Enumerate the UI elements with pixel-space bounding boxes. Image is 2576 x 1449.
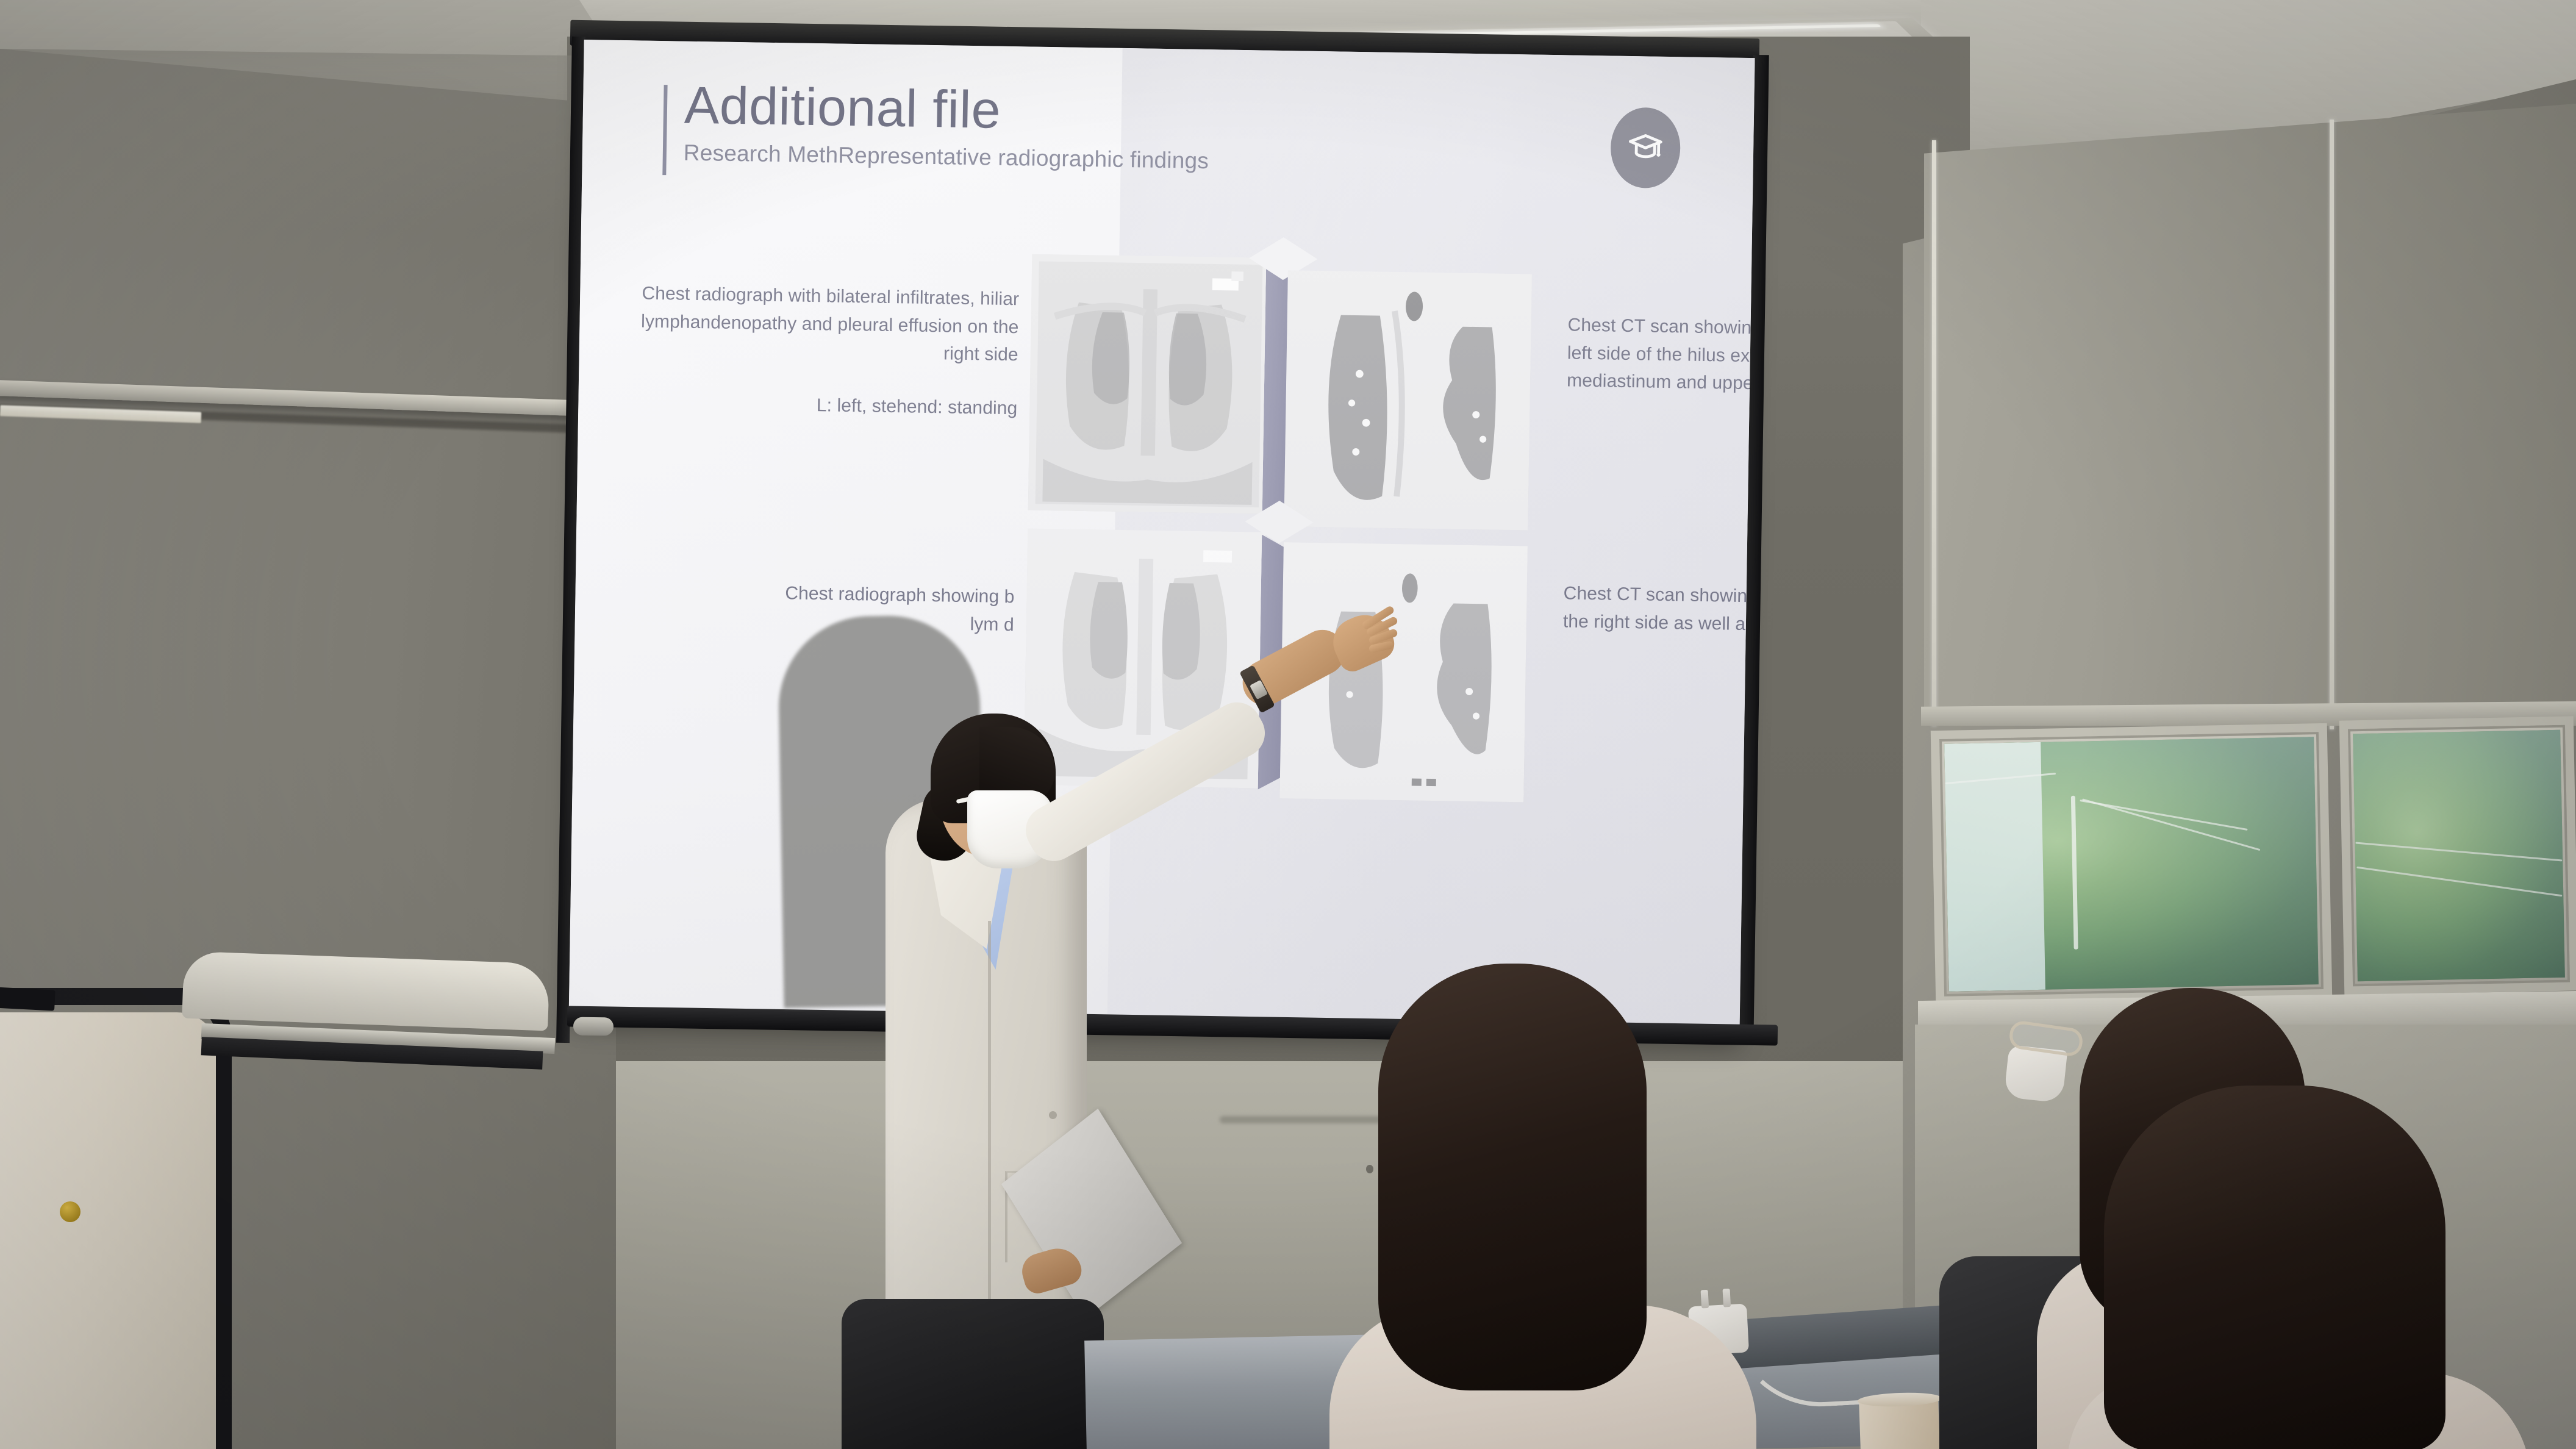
window-glass [2353,730,2565,981]
classroom-presentation-scene: Additional file Research MethRepresentat… [0,0,2576,1449]
audience-hair [2104,1086,2445,1449]
blind-seam [1932,140,1936,726]
power-line [1945,773,2055,784]
caption-bottom-right: Chest CT scan showing an empyema on the … [1563,579,1755,640]
caption-top-left-legend: L: left, stehend: standing [615,388,1018,423]
audience-member-1 [1323,964,1762,1449]
lab-coat-button [1049,1111,1057,1119]
wall-mounted-tray [182,951,549,1031]
cabinet-frame [0,988,232,1449]
page-title: Additional file [684,79,1395,144]
audience-hair [1378,964,1647,1390]
chair-back-left[interactable] [842,1299,1104,1449]
window-left [1931,723,2333,1005]
caption-top-left: Chest radiograph with bilateral infiltra… [615,279,1019,423]
chest-ct-glyph [1284,270,1532,530]
window-right [2339,716,2576,995]
caption-bottom-left-text-line2: lym d [970,614,1014,635]
audience-member-3 [2067,1086,2494,1449]
slide-subtitle: Research MethRepresentative radiographic… [684,140,1395,176]
power-line [2356,866,2562,896]
screen-pull-knob[interactable] [573,1017,614,1036]
lab-coat-seam [988,921,991,1348]
chest-ct-top-right [1284,270,1532,530]
power-line [2355,842,2562,861]
caption-top-right: Chest CT scan showing a mass on the left… [1567,311,1755,400]
caption-top-left-text: Chest radiograph with bilateral infiltra… [641,284,1019,365]
caption-bottom-left: Chest radiograph showing b lym d [612,577,1015,639]
graduation-cap-glyph [1624,129,1667,166]
blind-seam [2330,120,2334,729]
power-line [2082,798,2260,851]
title-accent-bar [662,85,667,175]
caption-bottom-left-text: Chest radiograph showing b [785,583,1015,607]
chest-xray-glyph [1028,254,1270,514]
wall-cabinet-unit [0,988,238,1449]
chest-radiograph-top-left [1028,254,1270,514]
cabinet-top-trim [0,986,55,1011]
cabinet-badge [60,1201,80,1222]
power-line [2080,800,2247,831]
utility-pole [2071,796,2078,950]
roller-blind[interactable] [1924,104,2576,726]
slide-title-block: Additional file Research MethRepresentat… [663,79,1396,177]
window-glass [1944,737,2319,992]
